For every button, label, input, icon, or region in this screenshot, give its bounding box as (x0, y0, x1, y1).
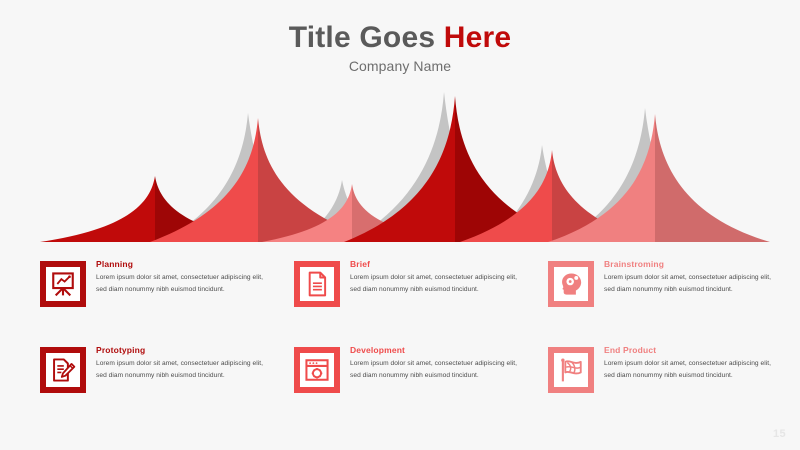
process-item-prototyping[interactable]: Prototyping Lorem ipsum dolor sit amet, … (40, 344, 282, 430)
brief-icon-box[interactable] (294, 261, 340, 307)
end-product-title: End Product (604, 346, 772, 355)
end-product-text: End Product Lorem ipsum dolor sit amet, … (604, 344, 772, 381)
process-item-brief[interactable]: Brief Lorem ipsum dolor sit amet, consec… (294, 258, 536, 344)
page-subtitle: Company Name (0, 58, 800, 74)
brief-desc: Lorem ipsum dolor sit amet, consectetuer… (350, 272, 518, 295)
brainstroming-icon-box[interactable] (548, 261, 594, 307)
mountain-peak-planning-left (40, 176, 155, 242)
mountain-chart (0, 88, 800, 248)
page-number: 15 (773, 428, 786, 440)
brainstroming-desc: Lorem ipsum dolor sit amet, consectetuer… (604, 272, 772, 295)
brainstroming-title: Brainstroming (604, 260, 772, 269)
prototyping-text: Prototyping Lorem ipsum dolor sit amet, … (96, 344, 264, 381)
head-gear-icon (558, 271, 584, 297)
end-product-icon-box[interactable] (548, 347, 594, 393)
process-item-end-product[interactable]: End Product Lorem ipsum dolor sit amet, … (548, 344, 790, 430)
slide-header: Title Goes Here Company Name (0, 22, 800, 74)
page-title-plain: Title Goes (289, 21, 444, 54)
development-desc: Lorem ipsum dolor sit amet, consectetuer… (350, 358, 518, 381)
mountain-chart-svg (0, 88, 800, 248)
process-items-grid: Planning Lorem ipsum dolor sit amet, con… (40, 258, 766, 430)
document-icon (304, 271, 330, 297)
prototyping-title: Prototyping (96, 346, 264, 355)
prototyping-icon-box[interactable] (40, 347, 86, 393)
slide-canvas: Title Goes Here Company Name (0, 0, 800, 450)
planning-text: Planning Lorem ipsum dolor sit amet, con… (96, 258, 264, 295)
page-title-accent: Here (444, 21, 512, 54)
planning-desc: Lorem ipsum dolor sit amet, consectetuer… (96, 272, 264, 295)
process-item-brainstroming[interactable]: Brainstroming Lorem ipsum dolor sit amet… (548, 258, 790, 344)
easel-presentation-icon (50, 271, 76, 297)
brainstroming-text: Brainstroming Lorem ipsum dolor sit amet… (604, 258, 772, 295)
document-pencil-icon (50, 357, 76, 383)
page-title: Title Goes Here (0, 22, 800, 54)
development-text: Development Lorem ipsum dolor sit amet, … (350, 344, 518, 381)
flag-icon (558, 357, 584, 383)
process-item-development[interactable]: Development Lorem ipsum dolor sit amet, … (294, 344, 536, 430)
development-icon-box[interactable] (294, 347, 340, 393)
brief-title: Brief (350, 260, 518, 269)
end-product-desc: Lorem ipsum dolor sit amet, consectetuer… (604, 358, 772, 381)
planning-title: Planning (96, 260, 264, 269)
process-item-planning[interactable]: Planning Lorem ipsum dolor sit amet, con… (40, 258, 282, 344)
prototyping-desc: Lorem ipsum dolor sit amet, consectetuer… (96, 358, 264, 381)
brief-text: Brief Lorem ipsum dolor sit amet, consec… (350, 258, 518, 295)
browser-gear-icon (304, 357, 330, 383)
development-title: Development (350, 346, 518, 355)
planning-icon-box[interactable] (40, 261, 86, 307)
mountain-peak-end-product-right (655, 114, 770, 242)
